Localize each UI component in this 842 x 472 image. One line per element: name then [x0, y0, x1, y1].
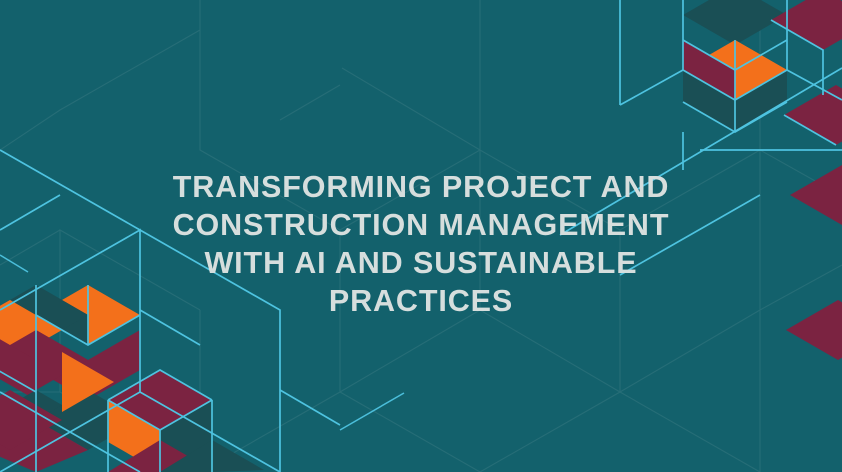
- presentation-slide: TRANSFORMING PROJECT AND CONSTRUCTION MA…: [0, 0, 842, 472]
- isometric-background-pattern: [0, 0, 842, 472]
